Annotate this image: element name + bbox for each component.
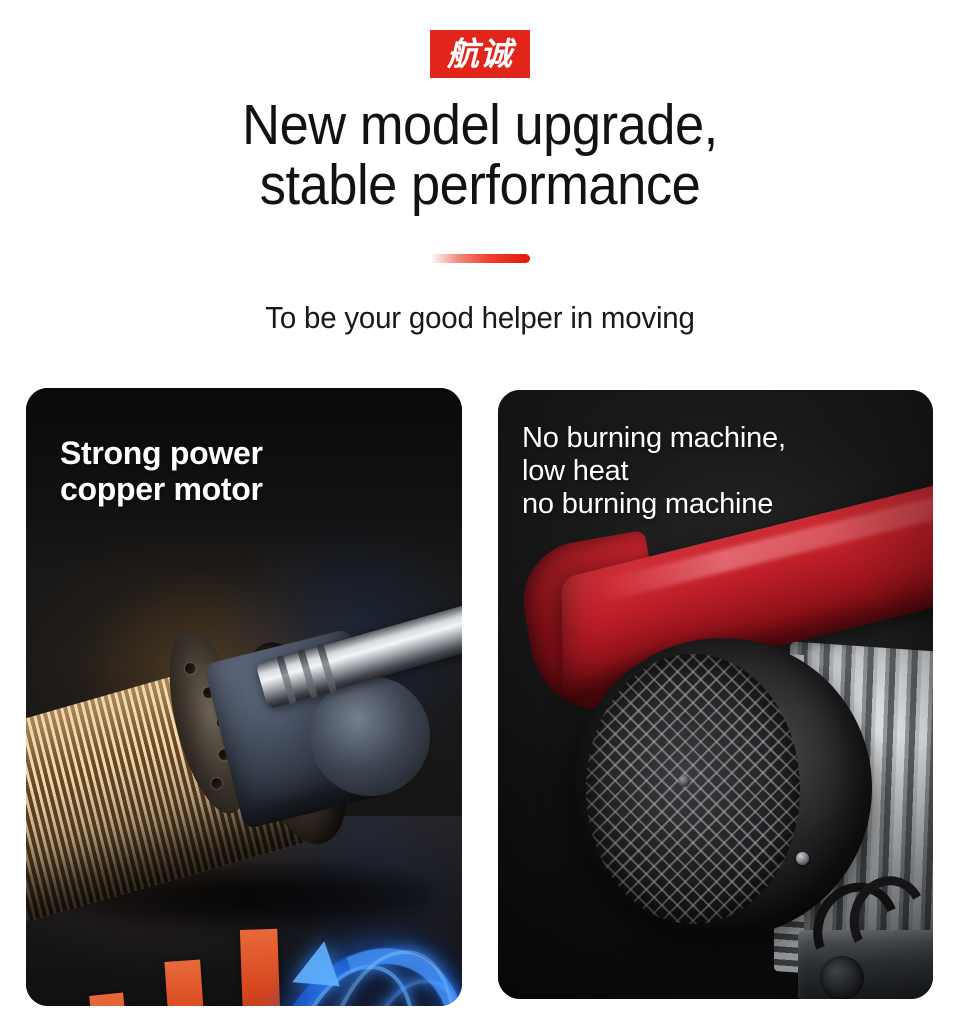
bearing-assembly: [310, 676, 430, 796]
flange-hole: [210, 777, 223, 790]
page-subheadline: To be your good helper in moving: [24, 300, 936, 336]
headline-line-2: stable performance: [38, 156, 921, 216]
feature-card-caption: No burning machine, low heat no burning …: [522, 422, 786, 520]
product-feature-page: 航诚 New model upgrade, stable performance…: [0, 0, 960, 1024]
page-headline: New model upgrade, stable performance: [38, 96, 921, 216]
shaft-band: [317, 643, 338, 693]
feature-card-copper-motor: Strong power copper motor: [26, 388, 462, 1006]
feature-card-no-burning: No burning machine, low heat no burning …: [498, 390, 933, 999]
airflow-arrow-icon: [227, 928, 294, 1006]
airflow-arrow-icon: [152, 959, 220, 1006]
headline-divider: [430, 254, 530, 263]
flange-hole: [184, 662, 197, 675]
brand-logo: 航诚: [430, 30, 530, 78]
shaft-band: [297, 649, 318, 699]
brand-logo-text: 航诚: [447, 38, 513, 70]
feature-card-caption: Strong power copper motor: [60, 436, 263, 508]
headline-line-1: New model upgrade,: [242, 93, 718, 157]
shaft-band: [276, 655, 297, 705]
